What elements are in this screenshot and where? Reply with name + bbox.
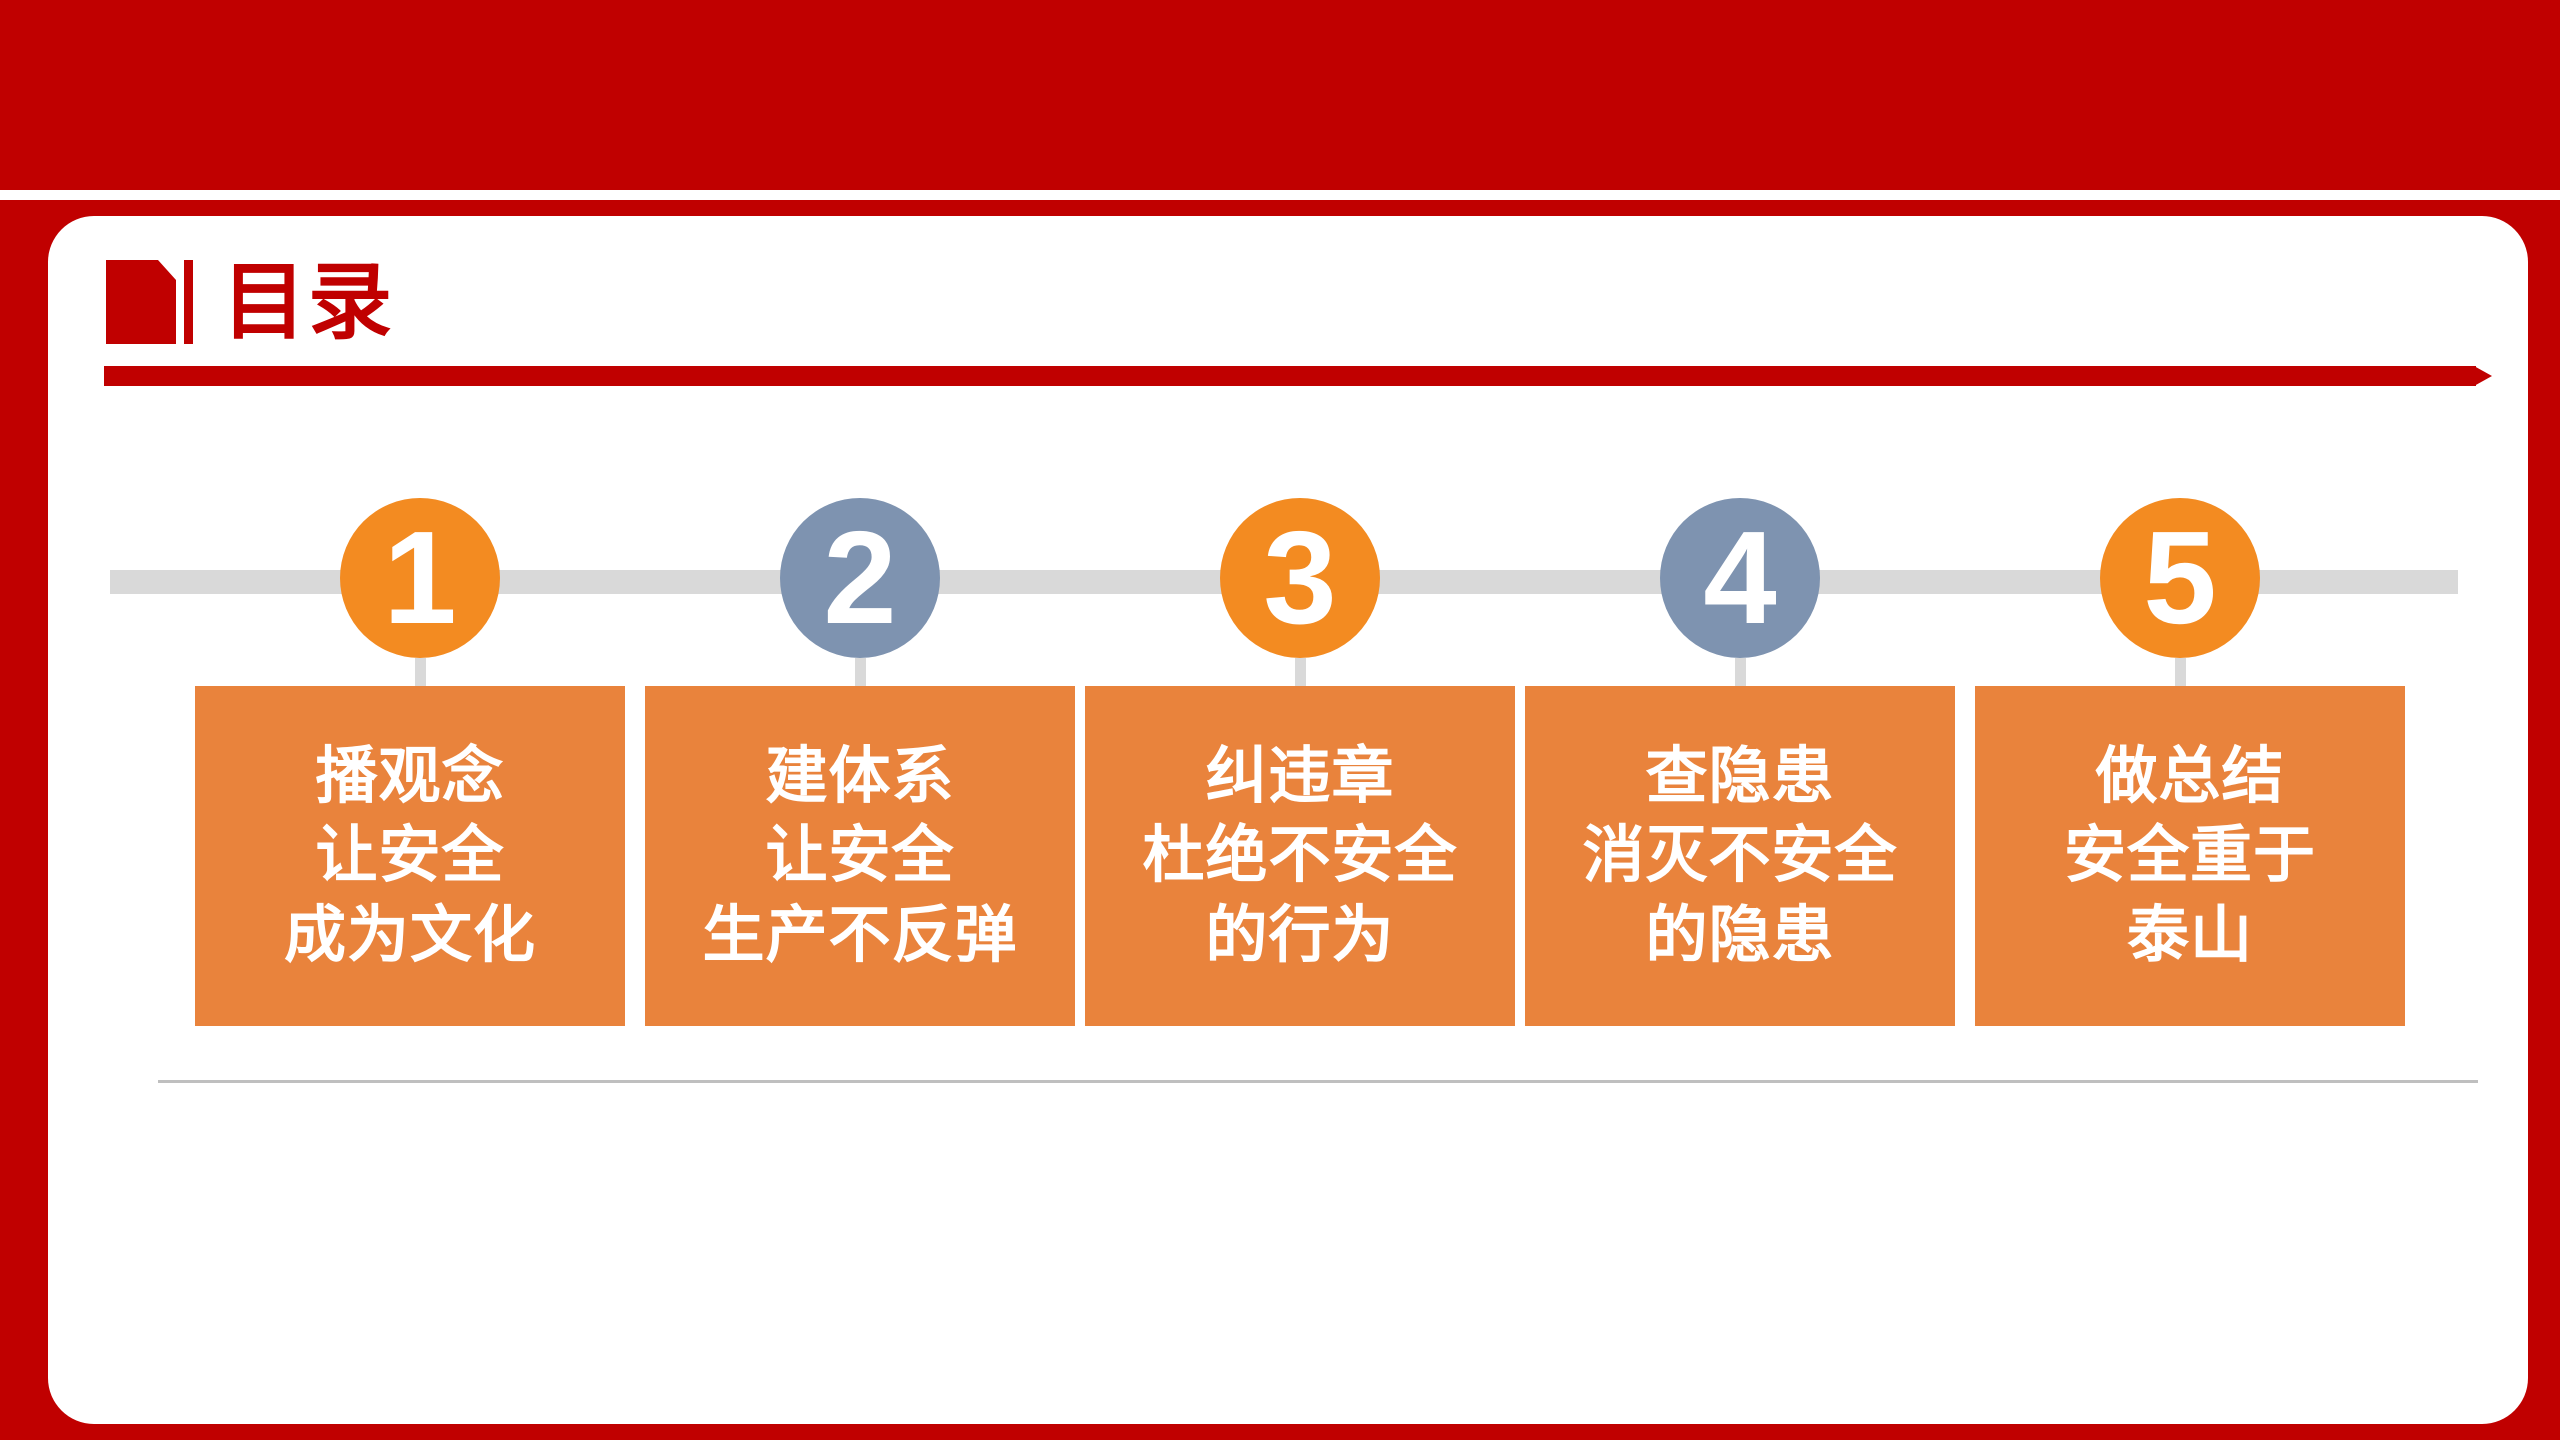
agenda-card-3-text: 纠违章 杜绝不安全 的行为 bbox=[1142, 737, 1457, 975]
top-red-banner bbox=[0, 0, 2560, 190]
agenda-card-5[interactable]: 做总结 安全重于 泰山 bbox=[1975, 686, 2405, 1026]
agenda-card-4-text: 查隐患 消灭不安全 的隐患 bbox=[1582, 737, 1897, 975]
bottom-divider bbox=[158, 1080, 2478, 1083]
slide-root: 目录 1 2 3 4 bbox=[0, 0, 2560, 1440]
agenda-card-3[interactable]: 纠违章 杜绝不安全 的行为 bbox=[1085, 686, 1515, 1026]
agenda-card-list: 播观念 让安全 成为文化 建体系 让安全 生产不反弹 纠违章 杜绝不安全 的行为… bbox=[48, 216, 2528, 1424]
agenda-card-1-text: 播观念 让安全 成为文化 bbox=[284, 737, 536, 975]
content-card: 目录 1 2 3 4 bbox=[48, 216, 2528, 1424]
agenda-card-2-text: 建体系 让安全 生产不反弹 bbox=[702, 737, 1017, 975]
agenda-card-2[interactable]: 建体系 让安全 生产不反弹 bbox=[645, 686, 1075, 1026]
agenda-card-1[interactable]: 播观念 让安全 成为文化 bbox=[195, 686, 625, 1026]
agenda-card-4[interactable]: 查隐患 消灭不安全 的隐患 bbox=[1525, 686, 1955, 1026]
banner-separator bbox=[0, 190, 2560, 200]
agenda-card-5-text: 做总结 安全重于 泰山 bbox=[2064, 737, 2316, 975]
